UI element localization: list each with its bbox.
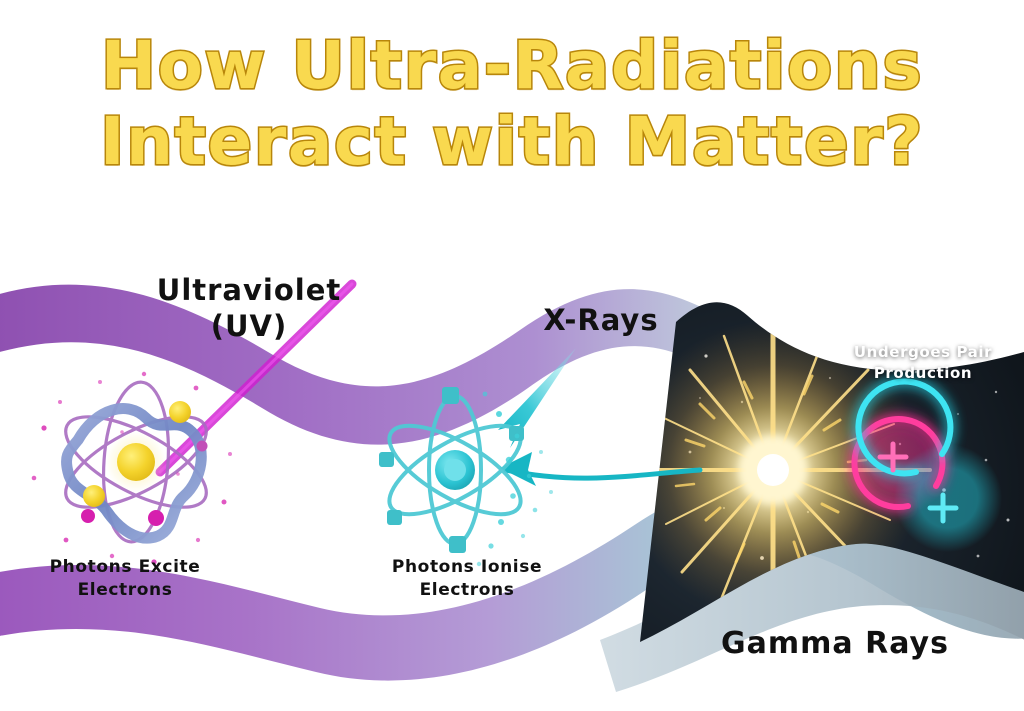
uv-electron-2	[148, 510, 164, 526]
uv-nucleus	[117, 443, 155, 481]
xray-arrows	[498, 348, 700, 486]
uv-electron-1	[81, 509, 95, 523]
label-xrays: X-Rays	[506, 303, 696, 337]
uv-excited-electron-2	[83, 485, 105, 507]
caption-gamma-effect: Undergoes Pair Production	[828, 342, 1018, 384]
caption-uv-effect: Photons Excite Electrons	[0, 556, 250, 602]
infographic-canvas: How Ultra-Radiations Interact with Matte…	[0, 0, 1024, 711]
caption-xray-effect: Photons Ionise Electrons	[372, 556, 562, 602]
uv-electron-3	[197, 441, 208, 452]
label-ultraviolet: Ultraviolet (UV)	[124, 272, 374, 344]
xray-arrow-curve	[506, 470, 700, 478]
xray-nucleus-core	[444, 459, 466, 481]
label-gamma-rays: Gamma Rays	[700, 626, 970, 661]
uv-atom	[32, 372, 232, 565]
uv-excited-electron-1	[169, 401, 191, 423]
